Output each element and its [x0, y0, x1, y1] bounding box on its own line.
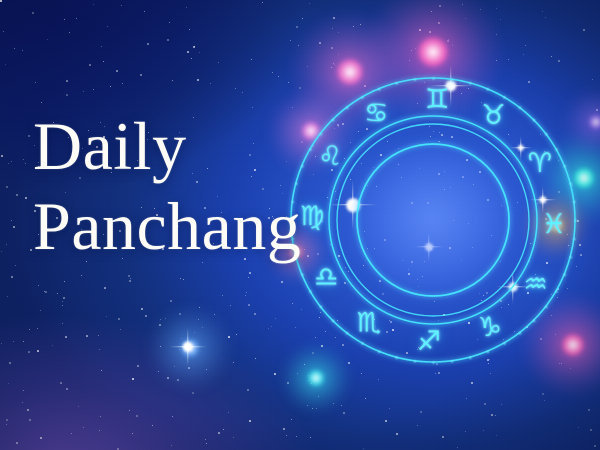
daily-panchang-banner: ♉♈♓♒♑♐♏♎♍♌♋♊ Daily Panchang — [0, 0, 600, 450]
title-line-1: Daily — [33, 112, 363, 180]
page-title: Daily Panchang — [33, 112, 363, 260]
title-line-2: Panchang — [33, 192, 363, 260]
